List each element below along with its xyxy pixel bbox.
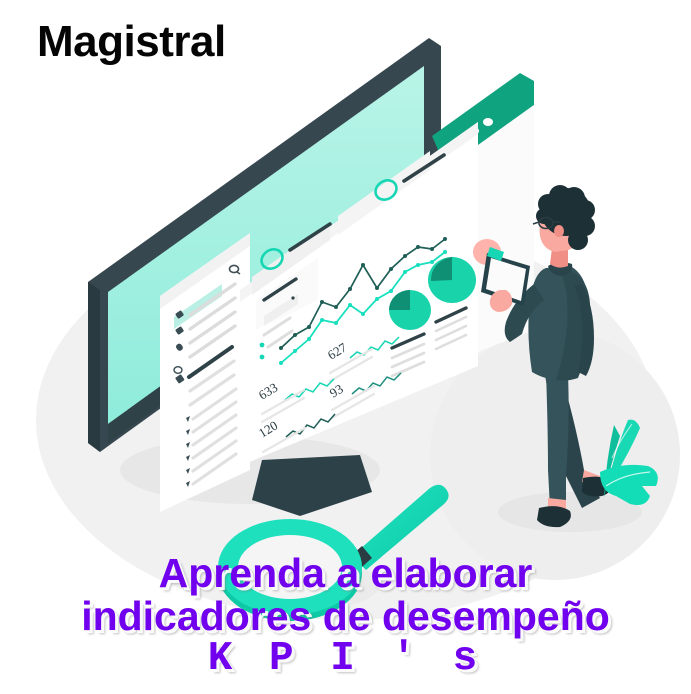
monitor-stand xyxy=(252,455,372,516)
headline-line-3: K P I ' s xyxy=(0,638,691,681)
headline: Aprenda a elaborar indicadores de desemp… xyxy=(0,552,691,681)
monstera-plant xyxy=(600,420,658,505)
filter-dot xyxy=(291,296,294,299)
legend-dot-1 xyxy=(260,343,265,348)
ear xyxy=(554,225,564,237)
monitor-bezel-side xyxy=(88,282,100,452)
pie-chart-small xyxy=(389,290,431,330)
headline-line-1: Aprenda a elaborar xyxy=(0,552,691,595)
pie-chart-large xyxy=(428,257,476,303)
headline-line-2: indicadores de desempeño xyxy=(0,595,691,638)
poster-canvas: Magistral xyxy=(0,0,691,694)
dot-3[interactable] xyxy=(483,118,493,126)
legend-dot-2 xyxy=(260,355,265,360)
leg-front xyxy=(546,372,569,514)
